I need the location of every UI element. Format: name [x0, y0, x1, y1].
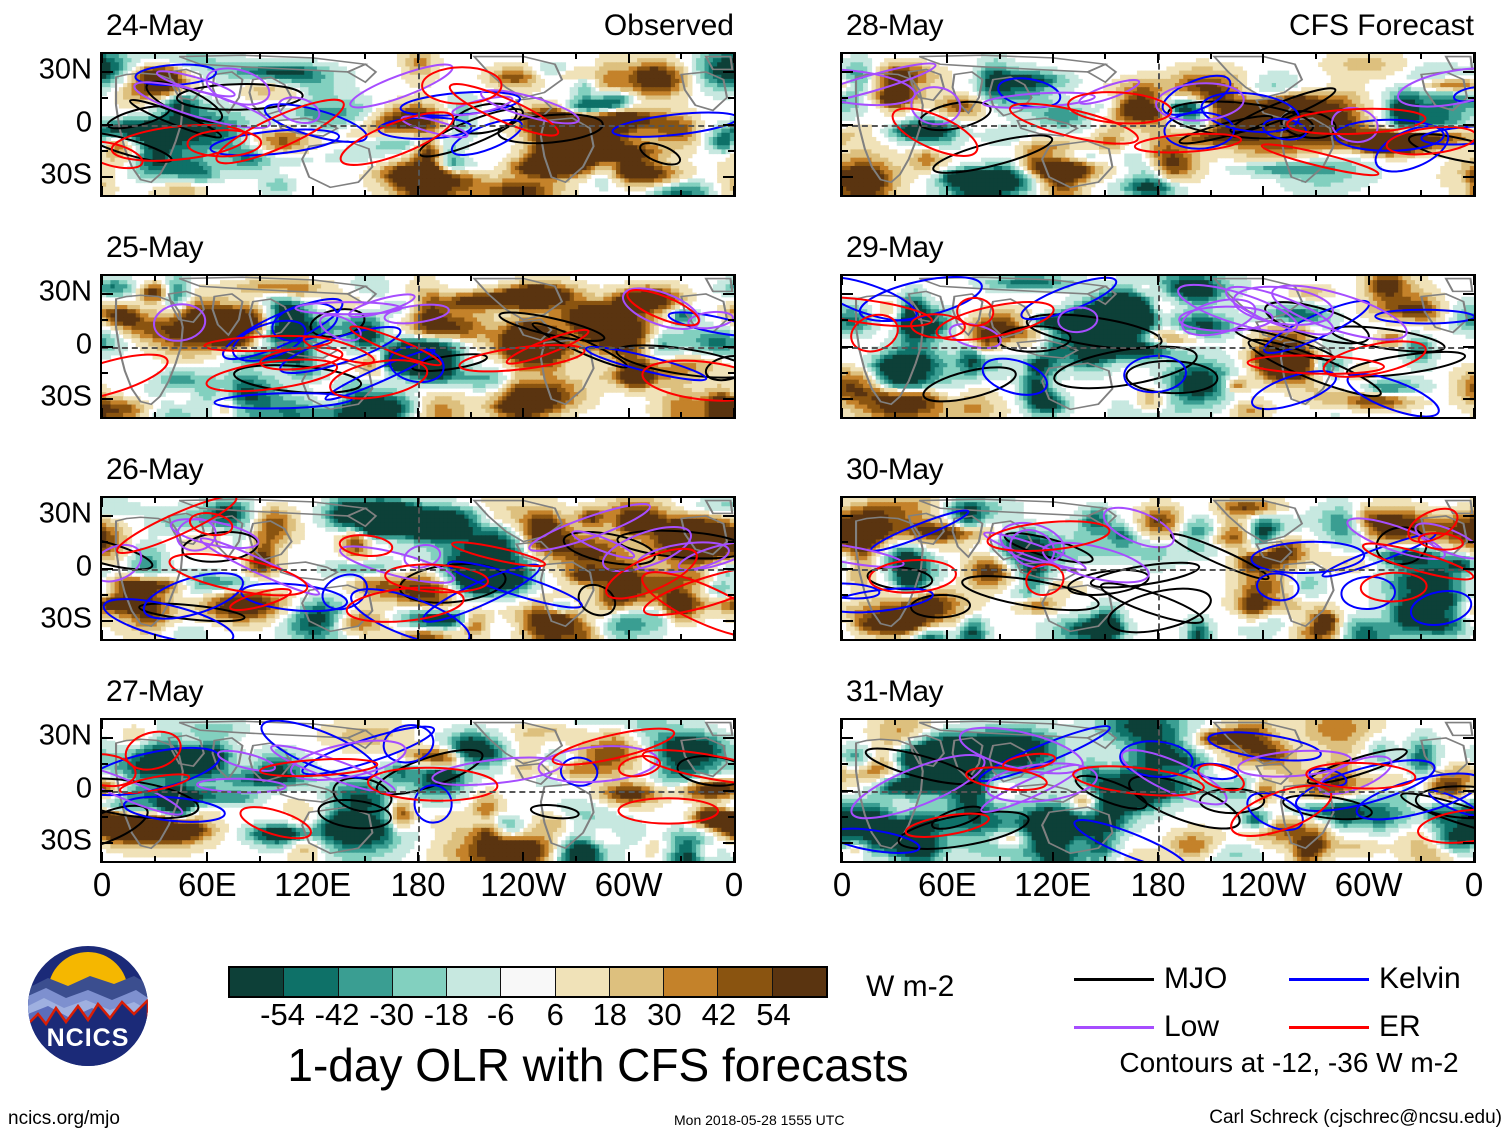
x-tick: [417, 186, 419, 195]
x-tick: [1420, 498, 1422, 503]
x-tick: [999, 720, 1001, 725]
x-tick-label: 60E: [918, 868, 977, 901]
colorbar-segment-1: [284, 968, 338, 996]
y-tick: [723, 737, 734, 739]
panel-date-label: 30-May: [846, 455, 943, 485]
y-tick-label: 30N: [39, 497, 92, 530]
x-tick: [312, 720, 314, 729]
x-tick: [841, 186, 843, 195]
x-tick: [101, 408, 103, 417]
x-tick: [470, 856, 472, 861]
y-tick: [1463, 737, 1474, 739]
x-tick: [206, 498, 208, 507]
x-tick: [946, 852, 948, 861]
x-tick: [1157, 408, 1159, 417]
x-tick: [154, 412, 156, 417]
y-tick: [102, 620, 113, 622]
x-tick: [680, 412, 682, 417]
x-tick: [312, 408, 314, 417]
map-panel-27-may: 27-May30N030S: [100, 680, 736, 870]
y-tick-label: 0: [76, 550, 92, 583]
x-tick: [841, 54, 843, 63]
x-tick-label: 120W: [1220, 868, 1306, 901]
x-tick: [101, 498, 103, 507]
x-tick: [1104, 190, 1106, 195]
y-tick: [1463, 515, 1474, 517]
x-tick: [999, 412, 1001, 417]
y-tick: [102, 842, 113, 844]
y-tick: [102, 97, 108, 99]
y-tick: [102, 176, 113, 178]
y-tick: [102, 346, 113, 348]
x-tick: [628, 54, 630, 63]
panel-date-label: 25-May: [106, 233, 203, 263]
x-tick: [364, 720, 366, 725]
x-tick: [1210, 634, 1212, 639]
colorbar-tick-label: -42: [315, 999, 360, 1030]
x-tick: [575, 634, 577, 639]
x-tick: [1052, 408, 1054, 417]
x-tick: [1315, 720, 1317, 725]
y-tick: [723, 398, 734, 400]
y-tick: [1463, 398, 1474, 400]
colorbar-segment-6: [556, 968, 610, 996]
x-tick: [1104, 498, 1106, 503]
colorbar-tick-label: -30: [369, 999, 414, 1030]
y-tick-label: 0: [76, 772, 92, 805]
y-tick: [1468, 97, 1474, 99]
y-tick: [723, 293, 734, 295]
x-tick: [841, 498, 843, 507]
x-tick-label: 60W: [595, 868, 663, 901]
dateline-marker: [1158, 54, 1160, 195]
x-tick: [1157, 852, 1159, 861]
y-tick: [728, 763, 734, 765]
y-tick: [842, 150, 848, 152]
y-tick: [102, 372, 108, 374]
x-tick: [628, 498, 630, 507]
y-tick: [102, 398, 113, 400]
x-tick: [154, 54, 156, 59]
map-plot-area: [840, 52, 1476, 197]
x-tick: [259, 856, 261, 861]
x-tick: [894, 412, 896, 417]
legend-label: Kelvin: [1379, 964, 1461, 994]
x-tick: [1262, 54, 1264, 63]
y-tick: [1468, 541, 1474, 543]
x-tick: [628, 276, 630, 285]
x-tick: [1157, 630, 1159, 639]
x-tick: [1052, 276, 1054, 285]
x-axis-left-column: 060E120E180120W60W0: [100, 868, 736, 908]
colorbar-segment-10: [773, 968, 826, 996]
x-tick: [1473, 630, 1475, 639]
y-tick-label: 0: [76, 328, 92, 361]
x-tick: [628, 408, 630, 417]
x-tick: [680, 54, 682, 59]
dateline-marker: [1158, 498, 1160, 639]
panel-date-label: 26-May: [106, 455, 203, 485]
x-tick: [1262, 720, 1264, 729]
x-tick: [1420, 276, 1422, 281]
x-tick: [470, 190, 472, 195]
x-tick: [1368, 408, 1370, 417]
x-tick: [1210, 190, 1212, 195]
y-tick: [1468, 763, 1474, 765]
x-tick: [312, 54, 314, 63]
dateline-marker: [1158, 720, 1160, 861]
y-tick: [842, 541, 848, 543]
y-tick: [728, 319, 734, 321]
x-tick: [894, 720, 896, 725]
x-tick: [1210, 412, 1212, 417]
y-tick: [842, 763, 848, 765]
y-tick: [102, 319, 108, 321]
x-tick: [575, 54, 577, 59]
y-tick: [102, 293, 113, 295]
x-tick: [1210, 276, 1212, 281]
x-tick-label: 120E: [274, 868, 351, 901]
legend-line-swatch: [1074, 1026, 1154, 1029]
colorbar: [228, 966, 828, 998]
y-tick: [102, 816, 108, 818]
x-tick: [894, 498, 896, 503]
x-tick: [522, 630, 524, 639]
x-tick: [1157, 186, 1159, 195]
legend-line-swatch: [1289, 1026, 1369, 1029]
y-tick: [102, 568, 113, 570]
x-tick: [1157, 276, 1159, 285]
x-tick: [1262, 408, 1264, 417]
x-tick: [1368, 276, 1370, 285]
x-tick: [1052, 54, 1054, 63]
x-tick: [470, 720, 472, 725]
x-tick: [680, 720, 682, 725]
y-tick: [102, 515, 113, 517]
x-tick: [154, 856, 156, 861]
x-tick: [894, 276, 896, 281]
x-tick: [101, 186, 103, 195]
y-tick-label: 30N: [39, 719, 92, 752]
x-tick: [1473, 186, 1475, 195]
x-tick: [1420, 720, 1422, 725]
legend-line-swatch: [1074, 978, 1154, 981]
x-tick-label: 0: [93, 868, 111, 901]
x-tick: [1473, 276, 1475, 285]
x-tick: [101, 720, 103, 729]
x-tick: [417, 852, 419, 861]
x-tick: [1104, 720, 1106, 725]
x-tick: [1473, 720, 1475, 729]
x-tick: [1473, 498, 1475, 507]
y-tick: [842, 790, 853, 792]
x-tick: [1262, 630, 1264, 639]
x-tick: [364, 856, 366, 861]
x-tick: [1157, 54, 1159, 63]
x-tick: [1104, 276, 1106, 281]
colorbar-tick-label: 42: [702, 999, 736, 1030]
x-tick: [1420, 634, 1422, 639]
panel-date-label: 31-May: [846, 677, 943, 707]
x-tick: [206, 54, 208, 63]
x-tick: [841, 276, 843, 285]
x-tick: [1315, 412, 1317, 417]
y-tick: [842, 620, 853, 622]
column-header-label: Observed: [604, 11, 734, 41]
x-tick: [101, 630, 103, 639]
x-tick: [680, 276, 682, 281]
y-tick: [842, 293, 853, 295]
y-tick: [102, 737, 113, 739]
x-tick: [1368, 54, 1370, 63]
map-panel-28-may: 28-MayCFS Forecast: [840, 14, 1476, 204]
y-tick: [723, 842, 734, 844]
y-tick: [1463, 790, 1474, 792]
ncics-logo: NCICS: [22, 940, 154, 1072]
legend-line-swatch: [1289, 978, 1369, 981]
x-tick: [1420, 856, 1422, 861]
colorbar-segment-0: [230, 968, 284, 996]
x-tick: [1368, 852, 1370, 861]
y-tick: [842, 346, 853, 348]
map-panel-24-may: 24-MayObserved30N030S: [100, 14, 736, 204]
ncics-logo-text: NCICS: [22, 1024, 154, 1053]
x-tick: [999, 190, 1001, 195]
x-tick: [364, 54, 366, 59]
x-tick-label: 0: [833, 868, 851, 901]
x-tick: [894, 54, 896, 59]
x-tick: [522, 186, 524, 195]
y-tick-label: 30S: [40, 825, 92, 858]
column-header-label: CFS Forecast: [1289, 11, 1474, 41]
y-tick: [723, 790, 734, 792]
x-tick: [1473, 852, 1475, 861]
y-tick: [842, 737, 853, 739]
x-tick: [417, 498, 419, 507]
x-tick: [946, 276, 948, 285]
x-tick: [312, 186, 314, 195]
x-tick: [628, 630, 630, 639]
y-tick: [728, 372, 734, 374]
x-tick: [1104, 412, 1106, 417]
y-tick: [723, 515, 734, 517]
y-tick: [723, 568, 734, 570]
y-tick: [102, 71, 113, 73]
y-tick: [842, 594, 848, 596]
x-tick: [1262, 276, 1264, 285]
x-tick: [522, 852, 524, 861]
legend-label: Low: [1164, 1012, 1219, 1042]
x-tick-label: 0: [725, 868, 743, 901]
colorbar-tick-label: 6: [547, 999, 564, 1030]
y-tick: [1468, 319, 1474, 321]
x-tick: [999, 276, 1001, 281]
footer-timestamp: Mon 2018-05-28 1555 UTC: [674, 1112, 844, 1128]
x-tick: [628, 186, 630, 195]
x-tick: [1262, 186, 1264, 195]
x-tick: [154, 276, 156, 281]
colorbar-segment-9: [718, 968, 772, 996]
x-tick: [259, 720, 261, 725]
x-tick: [364, 276, 366, 281]
y-tick: [728, 97, 734, 99]
y-tick: [1463, 620, 1474, 622]
panel-date-label: 28-May: [846, 11, 943, 41]
x-tick: [1368, 630, 1370, 639]
x-tick: [522, 720, 524, 729]
x-tick: [1210, 54, 1212, 59]
colorbar-tick-label: -18: [424, 999, 469, 1030]
colorbar-segment-2: [339, 968, 393, 996]
x-tick: [894, 190, 896, 195]
footer-author[interactable]: Carl Schreck (cjschrec@ncsu.edu): [1209, 1107, 1502, 1129]
x-tick: [312, 498, 314, 507]
x-tick: [575, 412, 577, 417]
legend-item-mjo: MJO: [1074, 962, 1227, 996]
y-tick: [1468, 150, 1474, 152]
map-plot-area: [840, 496, 1476, 641]
x-tick: [1157, 720, 1159, 729]
y-tick: [842, 568, 853, 570]
colorbar-tick-label: 54: [756, 999, 790, 1030]
x-tick: [1052, 186, 1054, 195]
x-tick-label: 120E: [1014, 868, 1091, 901]
x-tick: [522, 276, 524, 285]
x-tick: [946, 408, 948, 417]
colorbar-segment-5: [501, 968, 555, 996]
x-tick: [1262, 498, 1264, 507]
legend-item-er: ER: [1289, 1010, 1421, 1044]
footer-url[interactable]: ncics.org/mjo: [8, 1108, 120, 1130]
map-plot-area: [100, 274, 736, 419]
x-tick: [999, 856, 1001, 861]
x-tick: [1315, 856, 1317, 861]
y-tick-label: 30N: [39, 275, 92, 308]
x-tick: [312, 276, 314, 285]
x-tick: [575, 856, 577, 861]
y-tick: [1468, 594, 1474, 596]
x-tick: [154, 634, 156, 639]
y-tick: [723, 71, 734, 73]
y-tick: [1463, 842, 1474, 844]
x-tick: [1104, 634, 1106, 639]
y-tick-label: 30S: [40, 159, 92, 192]
x-tick: [206, 630, 208, 639]
x-tick: [946, 54, 948, 63]
y-tick: [842, 176, 853, 178]
x-tick: [894, 856, 896, 861]
x-tick: [733, 276, 735, 285]
x-tick: [575, 276, 577, 281]
y-tick: [102, 790, 113, 792]
y-tick: [1463, 71, 1474, 73]
map-plot-area: [840, 718, 1476, 863]
map-plot-area: [840, 274, 1476, 419]
map-panel-30-may: 30-May: [840, 458, 1476, 648]
x-tick-label: 180: [1130, 868, 1185, 901]
x-tick: [1052, 720, 1054, 729]
x-tick: [1315, 190, 1317, 195]
y-tick: [723, 620, 734, 622]
x-tick: [470, 412, 472, 417]
y-tick: [728, 541, 734, 543]
x-tick: [733, 852, 735, 861]
x-tick: [101, 54, 103, 63]
x-tick: [1368, 498, 1370, 507]
dateline-marker: [418, 498, 420, 639]
y-tick: [1463, 346, 1474, 348]
x-tick: [417, 408, 419, 417]
x-tick: [206, 852, 208, 861]
x-tick: [999, 634, 1001, 639]
legend-label: ER: [1379, 1012, 1421, 1042]
x-tick: [312, 630, 314, 639]
x-tick: [259, 498, 261, 503]
x-tick: [154, 720, 156, 725]
x-tick: [259, 634, 261, 639]
x-tick: [154, 498, 156, 503]
x-tick: [1315, 54, 1317, 59]
colorbar-tick-label: 30: [647, 999, 681, 1030]
map-panel-29-may: 29-May: [840, 236, 1476, 426]
x-tick: [680, 498, 682, 503]
x-tick: [417, 720, 419, 729]
x-tick: [101, 852, 103, 861]
y-tick: [842, 124, 853, 126]
x-tick: [946, 498, 948, 507]
x-tick: [1210, 498, 1212, 503]
y-tick: [842, 319, 848, 321]
x-tick: [628, 720, 630, 729]
dateline-marker: [418, 720, 420, 861]
x-tick: [154, 190, 156, 195]
x-tick: [946, 720, 948, 729]
x-tick: [1315, 634, 1317, 639]
map-panel-25-may: 25-May30N030S: [100, 236, 736, 426]
y-tick: [102, 541, 108, 543]
y-tick: [723, 346, 734, 348]
x-tick: [1104, 856, 1106, 861]
x-tick: [733, 630, 735, 639]
legend-label: MJO: [1164, 964, 1227, 994]
x-tick: [1315, 498, 1317, 503]
colorbar-segment-8: [664, 968, 718, 996]
x-tick: [1368, 186, 1370, 195]
x-tick: [259, 276, 261, 281]
colorbar-tick-label: -54: [260, 999, 305, 1030]
y-tick: [728, 594, 734, 596]
x-tick-label: 60E: [178, 868, 237, 901]
colorbar-units-label: W m-2: [866, 972, 954, 1002]
x-tick: [894, 634, 896, 639]
y-tick: [1463, 176, 1474, 178]
x-tick: [1210, 856, 1212, 861]
y-tick: [842, 71, 853, 73]
x-tick: [101, 276, 103, 285]
x-tick: [522, 54, 524, 63]
x-tick: [364, 412, 366, 417]
x-tick: [575, 498, 577, 503]
colorbar-tick-label: 18: [593, 999, 627, 1030]
x-tick: [259, 190, 261, 195]
x-tick: [841, 408, 843, 417]
x-tick: [470, 498, 472, 503]
y-tick: [842, 842, 853, 844]
x-tick: [1368, 720, 1370, 729]
x-tick: [1262, 852, 1264, 861]
y-tick: [1468, 816, 1474, 818]
x-tick: [206, 408, 208, 417]
